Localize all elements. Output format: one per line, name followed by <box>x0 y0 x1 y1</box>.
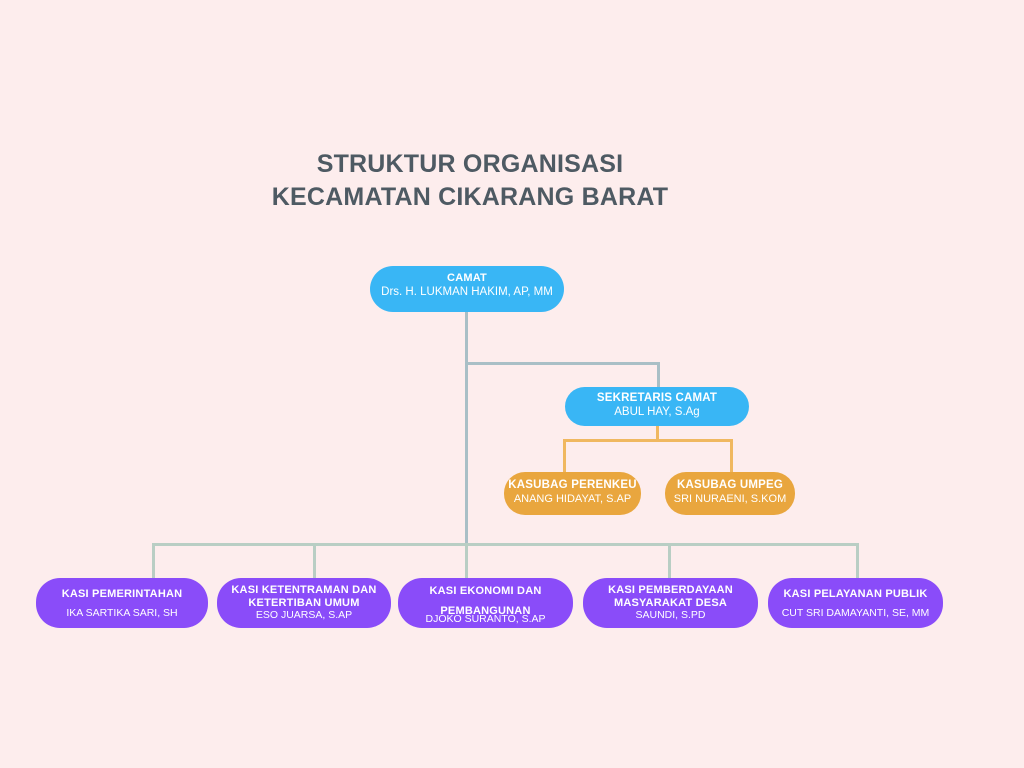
org-node-camat-person: Drs. H. LUKMAN HAKIM, AP, MM <box>370 285 564 299</box>
connector-kasubag-umpeg-drop <box>730 439 733 475</box>
org-node-sekretaris-camat[interactable]: SEKRETARIS CAMAT ABUL HAY, S.Ag <box>565 387 749 426</box>
connector-kasubag-bus <box>563 439 733 442</box>
connector-kasi-pemerintahan-drop <box>152 543 155 581</box>
org-node-camat[interactable]: CAMAT Drs. H. LUKMAN HAKIM, AP, MM <box>370 266 564 312</box>
connector-kasi-bus <box>152 543 859 546</box>
org-node-kasi-pemerintahan-person: IKA SARTIKA SARI, SH <box>36 601 208 620</box>
org-node-kasubag-perenkeu-title: KASUBAG PERENKEU <box>504 472 641 492</box>
connector-kasi-pemberdayaan-drop <box>668 543 671 581</box>
org-node-kasubag-umpeg-title: KASUBAG UMPEG <box>665 472 795 492</box>
org-node-kasi-ketentraman-person: ESO JUARSA, S.AP <box>217 609 391 622</box>
org-node-kasi-pemerintahan[interactable]: KASI PEMERINTAHAN IKA SARTIKA SARI, SH <box>36 578 208 628</box>
org-node-sekretaris-camat-person: ABUL HAY, S.Ag <box>565 405 749 419</box>
page-title: STRUKTUR ORGANISASI KECAMATAN CIKARANG B… <box>0 148 940 214</box>
org-node-kasubag-umpeg-person: SRI NURAENI, S.KOM <box>665 492 795 506</box>
connector-camat-to-sekretaris-horizontal <box>465 362 660 365</box>
connector-kasubag-perenkeu-drop <box>563 439 566 475</box>
org-node-kasi-ekonomi[interactable]: KASI EKONOMI DAN PEMBANGUNAN DJOKO SURAN… <box>398 578 573 628</box>
page-title-line-1: STRUKTUR ORGANISASI <box>0 148 940 181</box>
connector-sekretaris-drop <box>657 362 660 390</box>
org-node-kasubag-perenkeu[interactable]: KASUBAG PERENKEU ANANG HIDAYAT, S.AP <box>504 472 641 515</box>
org-node-kasubag-perenkeu-person: ANANG HIDAYAT, S.AP <box>504 492 641 506</box>
connector-kasi-pelayanan-drop <box>856 543 859 581</box>
org-node-kasi-ekonomi-person: DJOKO SURANTO, S.AP <box>398 613 573 626</box>
org-node-kasi-pelayanan[interactable]: KASI PELAYANAN PUBLIK CUT SRI DAMAYANTI,… <box>768 578 943 628</box>
org-node-kasi-pelayanan-title: KASI PELAYANAN PUBLIK <box>768 578 943 601</box>
org-node-kasi-pemberdayaan[interactable]: KASI PEMBERDAYAAN MASYARAKAT DESA SAUNDI… <box>583 578 758 628</box>
page-title-line-2: KECAMATAN CIKARANG BARAT <box>0 181 940 214</box>
org-chart-canvas: STRUKTUR ORGANISASI KECAMATAN CIKARANG B… <box>0 0 1024 768</box>
org-node-kasi-pelayanan-person: CUT SRI DAMAYANTI, SE, MM <box>768 601 943 620</box>
org-node-camat-title: CAMAT <box>370 266 564 285</box>
org-node-kasi-ekonomi-title-line-1: KASI EKONOMI DAN <box>398 578 573 598</box>
connector-kasi-ekonomi-drop <box>465 543 468 581</box>
org-node-kasi-pemberdayaan-person: SAUNDI, S.PD <box>583 609 758 622</box>
org-node-kasi-pemberdayaan-title-line-1: KASI PEMBERDAYAAN <box>583 578 758 597</box>
org-node-kasubag-umpeg[interactable]: KASUBAG UMPEG SRI NURAENI, S.KOM <box>665 472 795 515</box>
org-node-kasi-pemerintahan-title: KASI PEMERINTAHAN <box>36 578 208 601</box>
connector-kasi-ketentraman-drop <box>313 543 316 581</box>
org-node-sekretaris-camat-title: SEKRETARIS CAMAT <box>565 387 749 405</box>
org-node-kasi-ketentraman[interactable]: KASI KETENTRAMAN DAN KETERTIBAN UMUM ESO… <box>217 578 391 628</box>
connector-camat-trunk <box>465 312 468 543</box>
org-node-kasi-ketentraman-title-line-1: KASI KETENTRAMAN DAN <box>217 578 391 597</box>
